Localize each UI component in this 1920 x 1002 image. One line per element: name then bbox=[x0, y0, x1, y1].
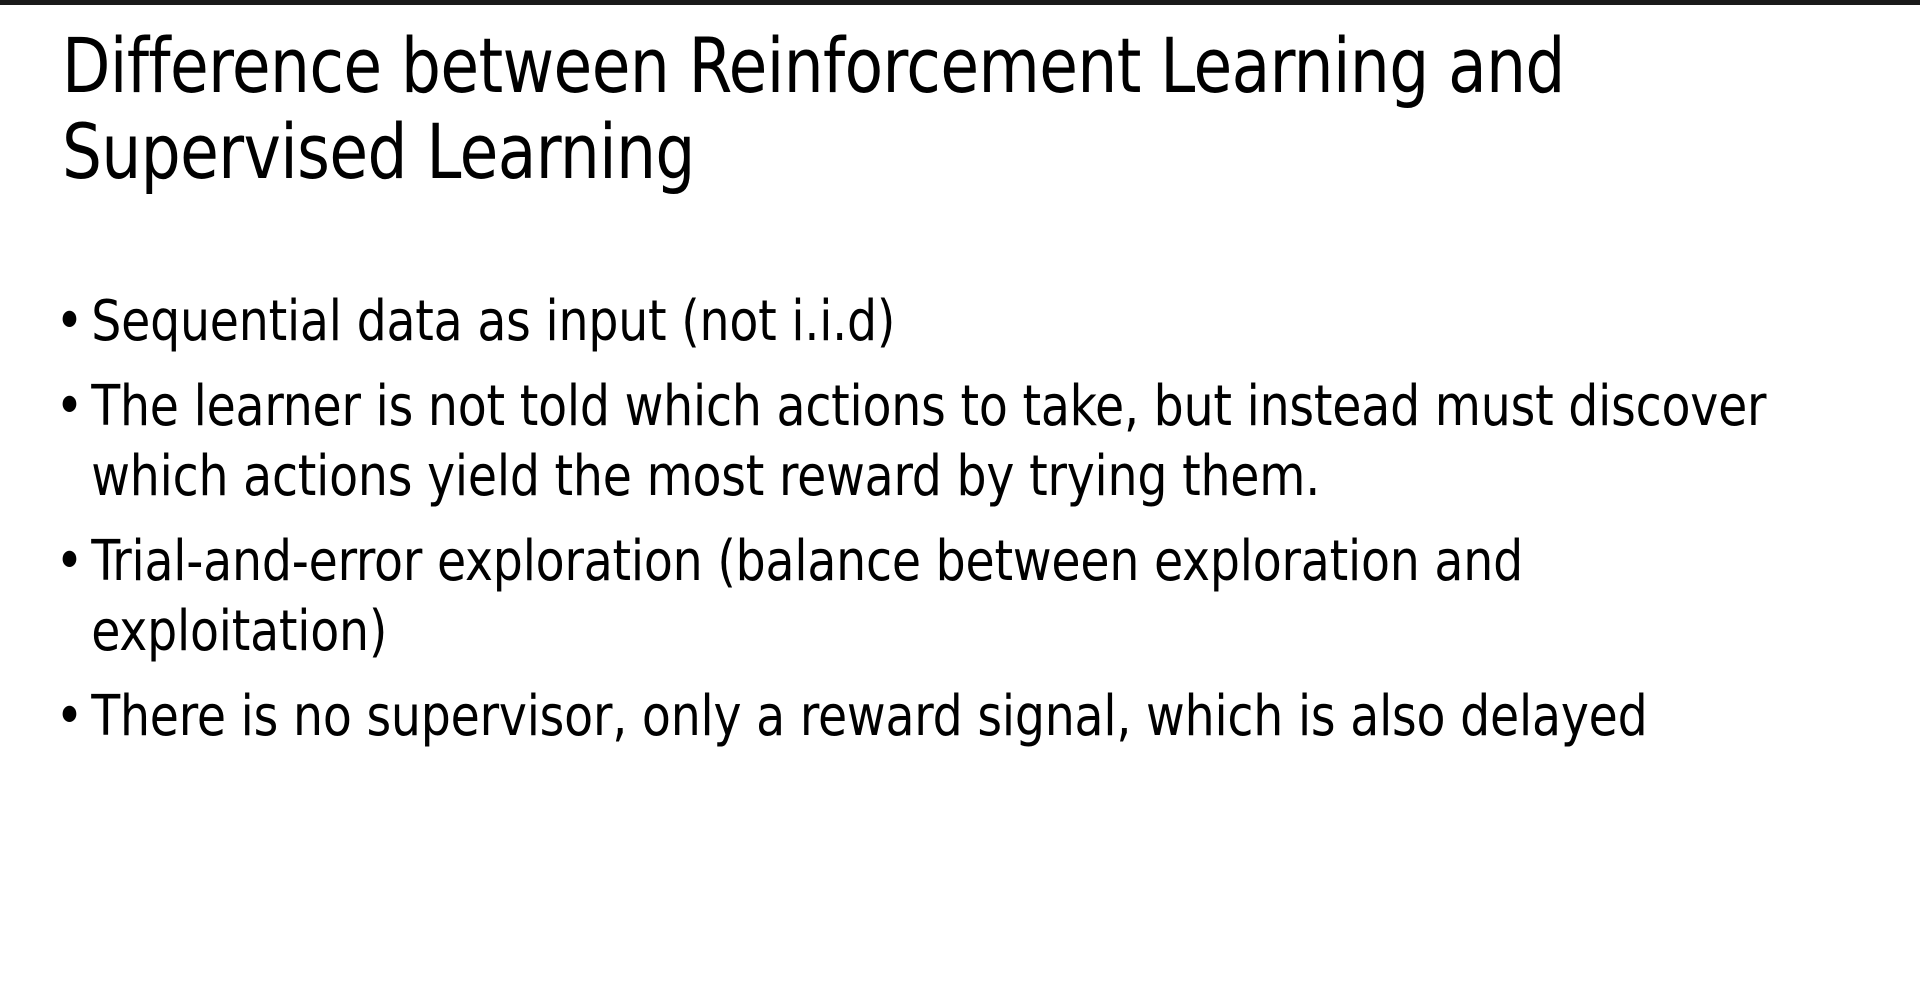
list-item-text: Trial-and-error exploration (balance bet… bbox=[91, 527, 1777, 668]
bullet-point-icon: • bbox=[56, 682, 84, 753]
slide-title-placeholder[interactable]: Difference between Reinforcement Learnin… bbox=[62, 23, 1852, 195]
list-item-text: Sequential data as input (not i.i.d) bbox=[91, 287, 1777, 358]
list-item[interactable]: • Sequential data as input (not i.i.d) bbox=[48, 287, 1778, 358]
presentation-slide: Difference between Reinforcement Learnin… bbox=[0, 0, 1920, 1002]
list-item-text: There is no supervisor, only a reward si… bbox=[91, 682, 1777, 753]
bullet-point-icon: • bbox=[56, 527, 84, 598]
list-item[interactable]: • There is no supervisor, only a reward … bbox=[48, 682, 1778, 753]
bullet-list: • Sequential data as input (not i.i.d) •… bbox=[48, 287, 1888, 752]
list-item[interactable]: • The learner is not told which actions … bbox=[48, 372, 1778, 513]
list-item[interactable]: • Trial-and-error exploration (balance b… bbox=[48, 527, 1778, 668]
page-title: Difference between Reinforcement Learnin… bbox=[62, 23, 1709, 195]
bullet-point-icon: • bbox=[56, 372, 84, 443]
slide-body-placeholder[interactable]: • Sequential data as input (not i.i.d) •… bbox=[48, 287, 1888, 752]
list-item-text: The learner is not told which actions to… bbox=[91, 372, 1777, 513]
bullet-point-icon: • bbox=[56, 287, 84, 358]
